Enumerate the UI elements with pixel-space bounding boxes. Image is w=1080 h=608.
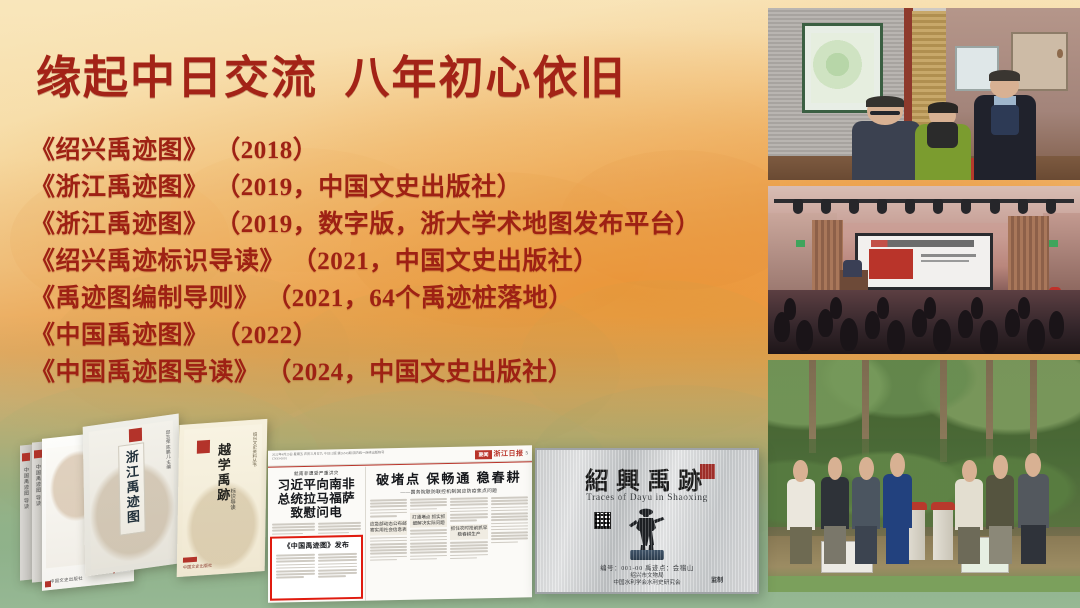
publication-meta: （2018） <box>215 137 318 164</box>
publication-title: 《浙江禹迹图》 <box>30 211 209 238</box>
book-subtitle: 标识导读 <box>228 488 236 510</box>
publication-title: 《绍兴禹迹标识导读》 <box>30 248 285 275</box>
photo-column <box>768 8 1080 602</box>
article-headline-main: 破堵点 保畅通 稳春耕 <box>370 466 528 488</box>
stone-marker <box>933 509 953 560</box>
qr-code-icon <box>594 512 611 529</box>
article-headline-xi: 习近平向南非总统拉马福萨致慰问电 <box>272 477 361 521</box>
plaque-organizations: 绍兴市文物局 中国水利学会水利史研究会 <box>537 573 757 588</box>
slide-canvas: 缘起中日交流 八年初心依旧 《绍兴禹迹图》 （2018） 《浙江禹迹图》 （20… <box>0 0 1080 608</box>
plaque-code-line: 编号：001-00 禹迹点：会稽山 <box>537 563 757 572</box>
person <box>986 455 1014 562</box>
masthead-paper-name: 浙江日报 <box>494 448 524 459</box>
article-subhead-b: 打通堵点 抓实抓细解决实际问题 <box>410 512 447 528</box>
book-publisher: 中国文史出版社 <box>50 576 83 585</box>
book-editors: 邱志荣 陈鹏儿 主编 <box>165 430 172 470</box>
person <box>787 460 815 562</box>
article-subhead-a: 应急部动态公布邮寄实用社会信息表 <box>370 519 407 535</box>
publication-meta: （2022） <box>215 322 318 349</box>
audience-seating <box>768 290 1080 354</box>
person-speaker <box>843 260 862 277</box>
newspaper-meta: 2022年4月29日 星期五 农历三月廿九 今日12版 第26543期 国内统一… <box>272 450 392 461</box>
plaque-title-english: Traces of Dayu in Shaoxing <box>537 493 757 503</box>
publication-title: 《禹迹图编制导则》 <box>30 285 260 312</box>
newspaper-masthead: 要闻 浙江日报 5 <box>475 448 528 459</box>
list-item: 《浙江禹迹图》 （2019，中国文史出版社） <box>30 169 760 206</box>
person <box>821 457 849 561</box>
publication-list: 《绍兴禹迹图》 （2018） 《浙江禹迹图》 （2019，中国文史出版社） 《浙… <box>30 132 760 391</box>
seal-icon <box>197 440 210 454</box>
photo-forest-marker-group <box>768 360 1080 592</box>
seal-icon <box>700 464 715 479</box>
book-spine-text: 中国禹迹图 导读 <box>35 464 42 507</box>
publisher-logo-icon <box>183 557 197 563</box>
publication-meta: （2021，64个禹迹桩落地） <box>266 285 574 312</box>
publication-title: 《中国禹迹图导读》 <box>30 359 260 386</box>
publication-title: 《浙江禹迹图》 <box>30 174 209 201</box>
photo-exhibition-hall-visit <box>768 8 1080 180</box>
book-covers-group: 中国禹迹图 导读 中国禹迹图 导读 中国禹迹图导读 中国文史出版社 浙江禹迹图 … <box>6 418 268 596</box>
publication-title: 《绍兴禹迹图》 <box>30 137 209 164</box>
highlighted-article-zhongguo-yuji-tu: 《中国禹迹图》发布 <box>270 535 363 601</box>
plaque-supervise-label: 监制 <box>711 575 723 584</box>
book-spine-text: 中国禹迹图 导读 <box>23 466 30 509</box>
presentation-screen <box>855 233 992 290</box>
person <box>955 460 983 562</box>
publication-meta: （2019，数字版，浙大学术地图发布平台） <box>215 211 701 238</box>
commemorative-plaque: 紹興禹跡 Traces of Dayu in Shaoxing 编号：001-0… <box>535 448 759 594</box>
dayu-statue-icon <box>624 506 670 554</box>
book-cover-yuexue-yuji: 越学禹跡 标识导读 绍兴文史资料丛书 中国文史出版社 <box>177 419 268 577</box>
publication-meta: （2024，中国文史出版社） <box>266 359 573 386</box>
book-title: 浙江禹迹图 <box>122 449 142 526</box>
publication-title: 《中国禹迹图》 <box>30 322 209 349</box>
plaque-title: 紹興禹跡 <box>537 461 757 496</box>
seal-icon <box>129 428 142 443</box>
publication-meta: （2021，中国文史出版社） <box>292 248 599 275</box>
person-seated-man <box>852 97 921 180</box>
person-woman-green-vest <box>915 104 971 180</box>
masthead-page-number: 5 <box>526 451 529 456</box>
statue-plinth <box>630 550 664 560</box>
publication-meta: （2019，中国文史出版社） <box>215 174 522 201</box>
list-item: 《禹迹图编制导则》 （2021，64个禹迹桩落地） <box>30 280 760 317</box>
article-subhead-c: 抓住农时抢前抓早稳春耕生产 <box>450 524 487 540</box>
book-cover-zhejiang-yuji-tu: 浙江禹迹图 邱志荣 陈鹏儿 主编 <box>83 413 182 576</box>
list-item: 《绍兴禹迹图》 （2018） <box>30 132 760 169</box>
person-standing-man <box>974 73 1036 180</box>
person <box>883 453 911 562</box>
masthead-section-tag: 要闻 <box>475 450 491 459</box>
book-series: 绍兴文史资料丛书 <box>251 432 258 468</box>
page-title: 缘起中日交流 八年初心依旧 <box>36 56 627 101</box>
person <box>1018 453 1049 562</box>
highlight-headline: 《中国禹迹图》发布 <box>276 540 357 552</box>
newspaper-clipping: 2022年4月29日 星期五 农历三月廿九 今日12版 第26543期 国内统一… <box>268 445 532 603</box>
cover-title-band: 浙江禹迹图 <box>118 442 146 535</box>
list-item: 《浙江禹迹图》 （2019，数字版，浙大学术地图发布平台） <box>30 206 760 243</box>
photo-auditorium-lecture <box>768 186 1080 354</box>
list-item: 《中国禹迹图》 （2022） <box>30 317 760 354</box>
list-item: 《绍兴禹迹标识导读》 （2021，中国文史出版社） <box>30 243 760 280</box>
list-item: 《中国禹迹图导读》 （2024，中国文史出版社） <box>30 354 760 391</box>
person <box>852 457 880 561</box>
plaque-org-2: 中国水利学会水利史研究会 <box>537 580 757 587</box>
